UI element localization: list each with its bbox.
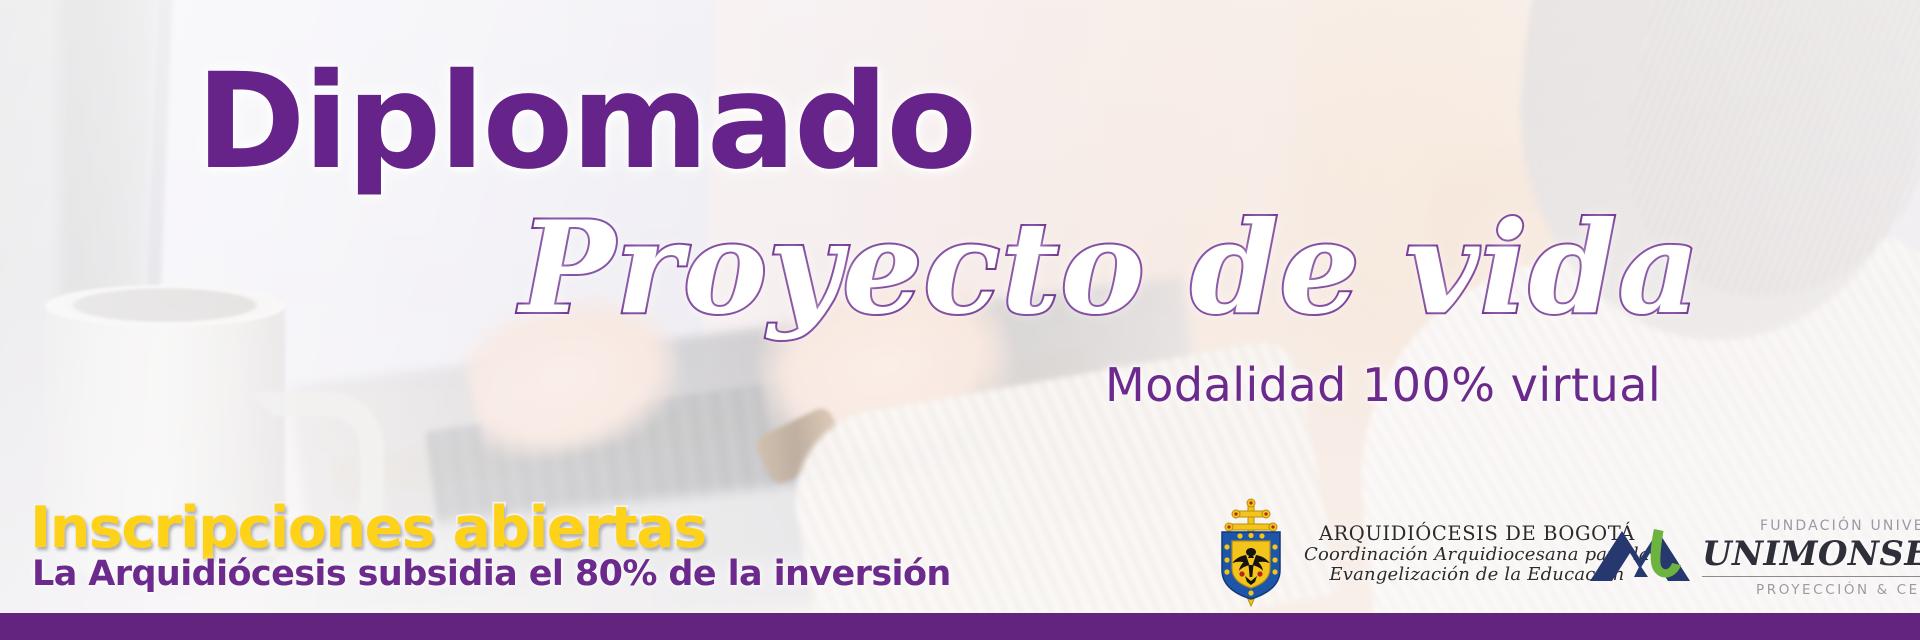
- unimonserrate-line-2: UNIMONSERRATE: [1702, 534, 1920, 577]
- unimonserrate-logo: FUNDACIÓN UNIVERSITARIA UNIMONSERRATE PR…: [1588, 505, 1920, 610]
- modality-label: Modalidad 100% virtual: [1105, 362, 1661, 408]
- unimonserrate-line-1: FUNDACIÓN UNIVERSITARIA: [1760, 518, 1920, 534]
- arquidiocesis-logo: ARQUIDIÓCESIS DE BOGOTÁ Coordinación Arq…: [1212, 498, 1650, 610]
- arquidiocesis-line-3: Evangelización de la Educación: [1329, 565, 1624, 585]
- subsidy-note: La Arquidiócesis subsidia el 80% de la i…: [32, 557, 951, 592]
- unimonserrate-wordmark: FUNDACIÓN UNIVERSITARIA UNIMONSERRATE PR…: [1702, 518, 1920, 598]
- program-name: Proyecto de vida: [520, 205, 1700, 331]
- page-title: Diplomado: [196, 56, 975, 188]
- mountain-monogram-icon: [1588, 515, 1708, 601]
- coat-of-arms-shield-icon: [1212, 498, 1290, 610]
- enrollment-headline: Inscripciones abiertas: [30, 500, 706, 557]
- promotional-banner: Diplomado Proyecto de vida Modalidad 100…: [0, 0, 1920, 640]
- unimonserrate-line-3: PROYECCIÓN & CERCANÍA: [1756, 582, 1920, 598]
- bottom-accent-bar: [0, 613, 1920, 640]
